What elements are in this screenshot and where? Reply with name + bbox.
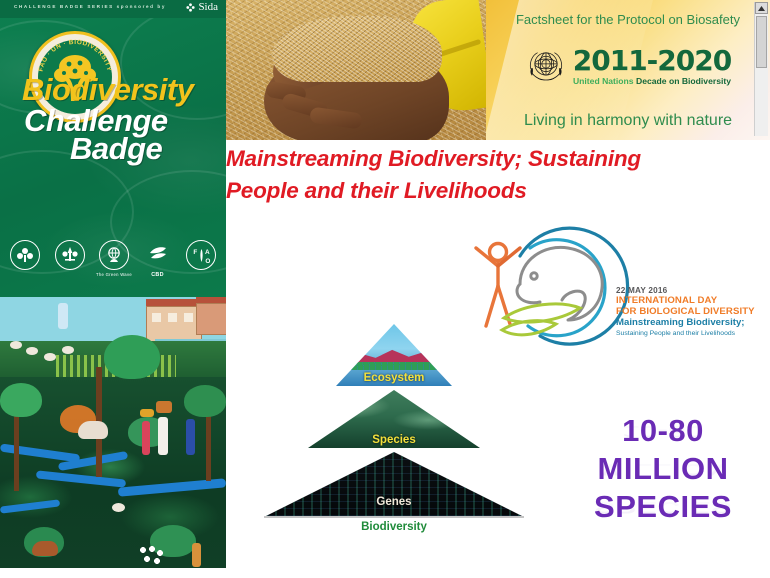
cover-title-badge: Badge [70, 131, 162, 167]
cbd-caption: CBD [151, 272, 164, 278]
house-window [152, 313, 161, 322]
svg-text:O: O [205, 258, 210, 265]
united-nations-emblem [525, 45, 567, 87]
basket [140, 409, 154, 417]
person [186, 419, 195, 455]
idb-line4: Sustaining People and their Livelihoods [616, 329, 762, 338]
wosm-scouts-logo [55, 240, 85, 270]
idb-line2: FOR BIOLOGICAL DIVERSITY [616, 306, 762, 317]
sheep [62, 346, 74, 354]
rice-pile [272, 16, 442, 82]
decade-subtitle-bio: Decade on Biodiversity [636, 76, 731, 86]
species-count-statistic: 10-80 10-80 MILLION MILLION SPECIES SPEC… [560, 412, 766, 526]
water-band [340, 362, 448, 370]
house [196, 303, 226, 335]
scroll-up-button[interactable] [755, 2, 768, 14]
decade-wordmark: 2011-2020 United Nations Decade on Biodi… [573, 47, 731, 86]
cbd-logo: CBD [144, 241, 172, 269]
flower-cluster [138, 545, 166, 565]
decade-subtitle-un: United Nations [573, 76, 636, 86]
pyramid-caption: Biodiversity [258, 521, 530, 533]
chevron-up-icon [758, 6, 765, 11]
page-title-line2: People and their Livelihoods [226, 175, 746, 207]
sida-logo: Sida [186, 2, 218, 13]
sida-wordmark: Sida [198, 2, 218, 13]
tree-canopy [0, 383, 42, 417]
wagggs-logo [10, 240, 40, 270]
sheep [44, 353, 56, 361]
sheep [112, 503, 125, 512]
basket [156, 401, 172, 413]
idb-text-block: 22 MAY 2016 INTERNATIONAL DAY FOR BIOLOG… [616, 286, 762, 338]
pyramid-tier-species-label: Species [308, 434, 480, 446]
stat-line-1: 10-80 10-80 [560, 412, 766, 450]
svg-text:FAO · UN · BIODIVERSITY: FAO · UN · BIODIVERSITY [37, 39, 112, 72]
banner-headline: Factsheet for the Protocol on Biosafety [486, 12, 770, 27]
folk-art-illustration [0, 297, 226, 568]
house-window [184, 313, 193, 322]
tree-canopy [184, 385, 226, 417]
sheep [10, 341, 22, 349]
un-decade-logo-row: 2011-2020 United Nations Decade on Biodi… [486, 45, 770, 87]
fleur-de-lis-icon [60, 245, 80, 265]
person [58, 303, 68, 329]
green-wave-logo: The Green Wave [99, 240, 129, 270]
idb-date: 22 MAY 2016 [616, 286, 762, 295]
svg-text:F: F [193, 249, 197, 256]
pyramid-tier-ecosystem: Ecosystem [336, 324, 452, 386]
house-window [168, 313, 177, 322]
stat-line-1-text: 10-80 [622, 413, 704, 448]
partner-logo-row: The Green Wave CBD F A O [10, 238, 216, 272]
banner-tagline: Living in harmony with nature [486, 112, 770, 130]
decade-years: 2011-2020 [573, 47, 731, 75]
decade-subtitle: United Nations Decade on Biodiversity [573, 76, 731, 86]
fao-wheat-icon: F A O [191, 245, 212, 266]
pyramid-tier-ecosystem-label: Ecosystem [336, 372, 452, 384]
idb-line3: Mainstreaming Biodiversity; [616, 317, 762, 329]
person [158, 417, 168, 455]
cbd-leaf-icon [147, 245, 169, 265]
fao-logo: F A O [186, 240, 216, 270]
cow [78, 421, 108, 439]
stat-line-3: SPECIES SPECIES [560, 488, 766, 526]
idb-line1: INTERNATIONAL DAY [616, 295, 762, 306]
image-scrollbar[interactable] [754, 2, 768, 136]
page-title-line1: Mainstreaming Biodiversity; Sustaining [226, 143, 746, 175]
pyramid-tier-genes: Genes [266, 452, 522, 516]
person [192, 543, 201, 567]
sheep [26, 347, 38, 355]
stat-line-2: MILLION MILLION [560, 450, 766, 488]
green-wave-caption: The Green Wave [96, 272, 132, 277]
stat-line-3-text: SPECIES [594, 489, 732, 524]
person [142, 421, 150, 455]
horse [32, 541, 58, 556]
stat-line-2-text: MILLION [598, 451, 729, 486]
tree-canopy [104, 335, 160, 379]
sponsor-line: CHALLENGE BADGE SERIES sponsored by [14, 4, 166, 9]
rice-grain-photo [226, 0, 486, 140]
sida-flower-icon [186, 3, 195, 12]
page-title: Mainstreaming Biodiversity; Sustaining P… [226, 143, 746, 207]
pyramid-tier-genes-label: Genes [266, 496, 522, 508]
biodiversity-challenge-badge-cover: CHALLENGE BADGE SERIES sponsored by Sida [0, 0, 226, 568]
slide-canvas: CHALLENGE BADGE SERIES sponsored by Sida [0, 0, 770, 578]
scrollbar-thumb[interactable] [756, 16, 767, 68]
svg-text:A: A [205, 249, 210, 256]
house [146, 306, 202, 342]
trefoil-icon [15, 245, 35, 265]
pyramid-base-line [264, 516, 524, 518]
pyramid-tier-species: Species [308, 390, 480, 448]
un-decade-banner: Factsheet for the Protocol on Biosafety [486, 0, 770, 140]
biodiversity-pyramid-diagram: Ecosystem Species Genes Biodiversity [258, 322, 530, 534]
globe-tree-icon [104, 245, 124, 265]
